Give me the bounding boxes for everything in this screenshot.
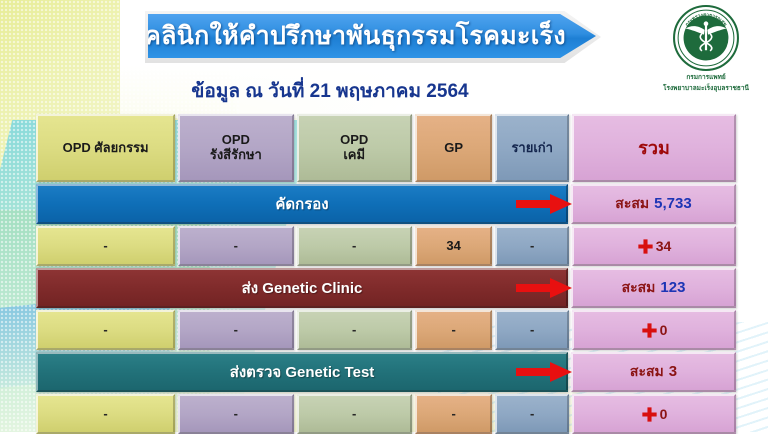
column-header-label-line1: OPD xyxy=(210,133,262,148)
cell-value: - xyxy=(103,323,107,338)
cell-value: - xyxy=(352,323,356,338)
column-header-label: GP xyxy=(444,141,463,156)
cell-value: - xyxy=(530,323,534,338)
cell-gp: 34 xyxy=(415,226,493,266)
column-header-label: OPD ศัลยกรรม xyxy=(63,141,149,156)
column-header-label-line1: OPD xyxy=(340,133,368,148)
column-header-label-line2: เคมี xyxy=(340,148,368,163)
right-arrow-icon xyxy=(516,194,572,214)
cell-gp: - xyxy=(415,310,493,350)
cell-value: - xyxy=(234,239,238,254)
page-title: คลินิกให้คำปรึกษาพันธุกรรมโรคมะเร็ง xyxy=(144,16,566,56)
column-header-label-line2: รังสีรักษา xyxy=(210,148,262,163)
total-value: 123 xyxy=(660,279,685,296)
cell-value: - xyxy=(103,239,107,254)
cell-value: - xyxy=(234,323,238,338)
total-accumulated-label: สะสม xyxy=(622,279,656,295)
cell-value: - xyxy=(451,323,455,338)
total-value: 34 xyxy=(656,238,672,254)
plus-cross-icon xyxy=(641,406,658,423)
column-header-label: รายเก่า xyxy=(511,141,553,156)
total-accumulated-label: สะสม xyxy=(615,195,649,211)
title-banner: คลินิกให้คำปรึกษาพันธุกรรมโรคมะเร็ง xyxy=(148,14,596,58)
row-bar-screening: คัดกรอง xyxy=(36,184,568,224)
total-accumulated-label: สะสม xyxy=(630,363,664,379)
column-header-gp: GP xyxy=(415,114,493,182)
column-header-opd-radiotherapy: OPD รังสีรักษา xyxy=(178,114,293,182)
cell-old-case: - xyxy=(495,310,569,350)
row-bar-label: คัดกรอง xyxy=(275,192,328,216)
row-total-cell: สะสม 5,733 xyxy=(571,184,736,224)
cell-opd-chemo: - xyxy=(297,394,412,434)
row-bar-label: ส่ง Genetic Clinic xyxy=(242,276,363,300)
cell-value: - xyxy=(451,407,455,422)
cell-old-case: - xyxy=(495,226,569,266)
plus-cross-icon xyxy=(637,238,654,255)
total-value: 0 xyxy=(660,322,668,338)
logo-caption-line1: กรมการแพทย์ xyxy=(650,74,762,83)
table-row: ส่ง Genetic Clinic สะสม 123 xyxy=(36,268,736,308)
row-total-cell: 34 xyxy=(572,226,736,266)
total-value: 0 xyxy=(660,406,668,422)
right-arrow-icon xyxy=(516,278,572,298)
organization-logo: กระทรวงสาธารณสุข MINISTRY OF PUBLIC HEAL… xyxy=(650,4,762,94)
cell-opd-radiotherapy: - xyxy=(178,310,293,350)
cell-value: - xyxy=(352,239,356,254)
cell-gp: - xyxy=(415,394,493,434)
column-header-old-case: รายเก่า xyxy=(495,114,569,182)
table-header-row: OPD ศัลยกรรม OPD รังสีรักษา OPD เคมี GP … xyxy=(36,114,736,182)
cell-opd-radiotherapy: - xyxy=(178,226,293,266)
cell-opd-chemo: - xyxy=(297,310,412,350)
row-bar-label: ส่งตรวจ Genetic Test xyxy=(230,360,375,384)
plus-cross-icon xyxy=(641,322,658,339)
table-row: ส่งตรวจ Genetic Test สะสม 3 xyxy=(36,352,736,392)
table-row: - - - - - 0 xyxy=(36,310,736,350)
total-value: 3 xyxy=(669,363,677,380)
cell-opd-radiotherapy: - xyxy=(178,394,293,434)
cell-value: - xyxy=(530,407,534,422)
data-table: OPD ศัลยกรรม OPD รังสีรักษา OPD เคมี GP … xyxy=(36,114,736,426)
table-row: คัดกรอง สะสม 5,733 xyxy=(36,184,736,224)
ministry-of-public-health-seal-icon: กระทรวงสาธารณสุข MINISTRY OF PUBLIC HEAL… xyxy=(672,4,740,72)
column-header-opd-chemo: OPD เคมี xyxy=(297,114,412,182)
total-value: 5,733 xyxy=(654,195,692,212)
slide-header: คลินิกให้คำปรึกษาพันธุกรรมโรคมะเร็ง ข้อม… xyxy=(0,0,768,112)
cell-value: 34 xyxy=(446,239,460,254)
cell-old-case: - xyxy=(495,394,569,434)
cell-opd-surgery: - xyxy=(36,226,175,266)
cell-opd-chemo: - xyxy=(297,226,412,266)
table-row: - - - - - 0 xyxy=(36,394,736,434)
cell-value: - xyxy=(234,407,238,422)
table-row: - - - 34 - 34 xyxy=(36,226,736,266)
row-bar-send-genetic-clinic: ส่ง Genetic Clinic xyxy=(36,268,568,308)
column-header-total-label: รวม xyxy=(638,138,670,159)
logo-caption-line2: โรงพยาบาลมะเร็งอุบลราชธานี xyxy=(650,85,762,94)
row-total-cell: 0 xyxy=(572,394,736,434)
data-as-of-date: ข้อมูล ณ วันที่ 21 พฤษภาคม 2564 xyxy=(0,76,660,106)
cell-opd-surgery: - xyxy=(36,394,175,434)
column-header-opd-surgery: OPD ศัลยกรรม xyxy=(36,114,175,182)
row-total-cell: 0 xyxy=(572,310,736,350)
row-total-cell: สะสม 3 xyxy=(571,352,736,392)
row-total-cell: สะสม 123 xyxy=(571,268,736,308)
cell-value: - xyxy=(103,407,107,422)
cell-value: - xyxy=(530,239,534,254)
cell-value: - xyxy=(352,407,356,422)
right-arrow-icon xyxy=(516,362,572,382)
column-header-total: รวม xyxy=(572,114,736,182)
row-bar-send-genetic-test: ส่งตรวจ Genetic Test xyxy=(36,352,568,392)
cell-opd-surgery: - xyxy=(36,310,175,350)
